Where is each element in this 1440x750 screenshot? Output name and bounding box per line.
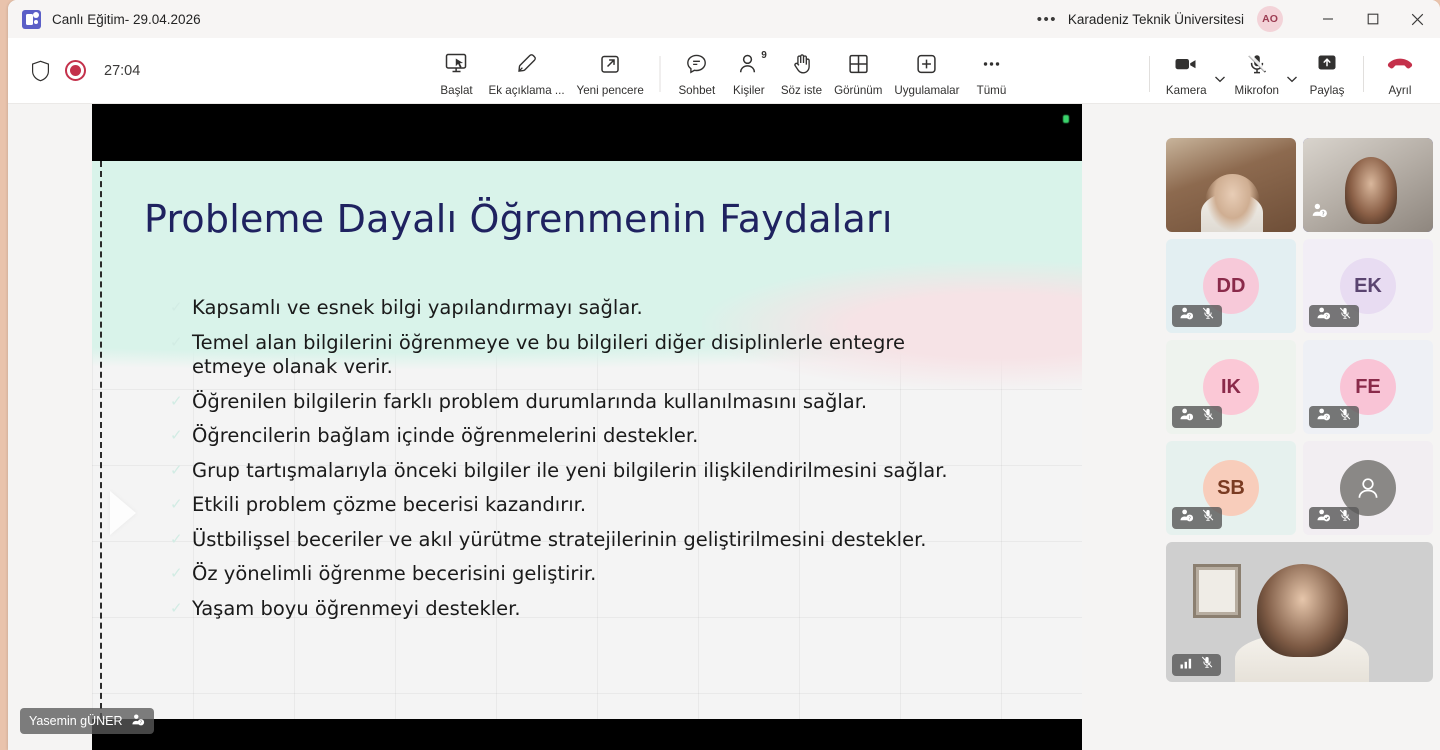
people-count-badge: 9 bbox=[761, 50, 767, 61]
new-window-label: Yeni pencere bbox=[577, 84, 644, 97]
roster-grid: ? DD ? bbox=[1166, 138, 1434, 535]
list-item-text: Öz yönelimli öğrenme becerisini geliştir… bbox=[192, 562, 596, 587]
close-button[interactable] bbox=[1395, 0, 1440, 38]
slide-bullet-list: ✓ Kapsamlı ve esnek bilgi yapılandırmayı… bbox=[170, 296, 1042, 631]
list-item: ✓ Temel alan bilgilerini öğrenmeye ve bu… bbox=[170, 331, 1042, 380]
people-icon: 9 bbox=[737, 49, 761, 79]
participant-tile-dd[interactable]: DD ? bbox=[1166, 239, 1296, 333]
presenter-person-icon: ? bbox=[1311, 202, 1328, 224]
participant-tile-sb[interactable]: SB ? bbox=[1166, 441, 1296, 535]
check-icon: ✓ bbox=[170, 459, 192, 483]
list-item-text: Üstbilişsel beceriler ve akıl yürütme st… bbox=[192, 528, 927, 553]
window-title: Canlı Eğitim- 29.04.2026 bbox=[52, 12, 201, 27]
share-label: Paylaş bbox=[1310, 84, 1345, 97]
presenter-person-icon: ? bbox=[131, 713, 145, 730]
shield-icon bbox=[30, 60, 51, 82]
toolbar-divider-1 bbox=[660, 56, 661, 92]
list-item: ✓ Öğrenilen bilgilerin farklı problem du… bbox=[170, 390, 1042, 415]
avatar[interactable]: AO bbox=[1257, 6, 1283, 32]
organization-name: Karadeniz Teknik Üniversitesi bbox=[1064, 12, 1257, 27]
green-dot-icon bbox=[1063, 115, 1069, 123]
list-item-text: Öğrencilerin bağlam içinde öğrenmelerini… bbox=[192, 424, 698, 449]
title-bar-left: Canlı Eğitim- 29.04.2026 bbox=[8, 10, 201, 29]
camera-button[interactable]: Kamera bbox=[1160, 42, 1213, 104]
tile-status-pill: ? bbox=[1172, 305, 1222, 327]
pen-annotation-icon bbox=[514, 49, 540, 79]
tile-status-pill: i bbox=[1172, 406, 1222, 428]
video-feed bbox=[1166, 138, 1296, 232]
presenter-info-icon: i bbox=[1179, 407, 1194, 427]
mic-muted-icon bbox=[1200, 655, 1214, 675]
presenter-check-icon bbox=[1316, 508, 1331, 528]
chat-label: Sohbet bbox=[678, 84, 715, 97]
view-label: Görünüm bbox=[834, 84, 882, 97]
participant-video-2[interactable]: ? bbox=[1303, 138, 1433, 232]
more-ellipsis-icon bbox=[979, 49, 1003, 79]
next-slide-arrow-icon[interactable] bbox=[110, 491, 136, 535]
letterbox-top bbox=[92, 104, 1082, 161]
window-overflow-label: ••• bbox=[1037, 11, 1057, 28]
tile-status-pill: ? bbox=[1309, 305, 1359, 327]
mic-muted-icon bbox=[1338, 306, 1352, 326]
tile-status-pill bbox=[1309, 507, 1359, 529]
teams-window: Canlı Eğitim- 29.04.2026 ••• Karadeniz T… bbox=[8, 0, 1440, 750]
chat-button[interactable]: Sohbet bbox=[671, 42, 723, 104]
toolbar-center-group: Başlat Ek açıklama ... bbox=[431, 38, 1018, 104]
camera-label: Kamera bbox=[1166, 84, 1207, 97]
slide-canvas: Probleme Dayalı Öğrenmenin Faydaları ✓ K… bbox=[92, 161, 1082, 719]
mic-muted-icon bbox=[1201, 306, 1215, 326]
annotation-label: Ek açıklama ... bbox=[489, 84, 565, 97]
tile-status-pill: ? bbox=[1172, 507, 1222, 529]
title-bar: Canlı Eğitim- 29.04.2026 ••• Karadeniz T… bbox=[8, 0, 1440, 38]
presenter-person-icon: ? bbox=[1179, 508, 1194, 528]
list-item: ✓ Kapsamlı ve esnek bilgi yapılandırmayı… bbox=[170, 296, 1042, 321]
mic-muted-icon bbox=[1338, 407, 1352, 427]
wall-frame-decor bbox=[1193, 564, 1241, 617]
letterbox-bottom bbox=[92, 719, 1082, 750]
camera-icon bbox=[1173, 49, 1199, 79]
screen-root: Canlı Eğitim- 29.04.2026 ••• Karadeniz T… bbox=[0, 0, 1440, 750]
raise-hand-button[interactable]: Söz iste bbox=[775, 42, 828, 104]
microphone-chevron-down-icon[interactable] bbox=[1285, 72, 1301, 104]
shared-content[interactable]: Probleme Dayalı Öğrenmenin Faydaları ✓ K… bbox=[92, 104, 1082, 750]
slide-title: Probleme Dayalı Öğrenmenin Faydaları bbox=[144, 197, 893, 241]
title-bar-right: ••• Karadeniz Teknik Üniversitesi AO bbox=[1030, 0, 1440, 38]
participant-roster: ? DD ? bbox=[1166, 138, 1434, 682]
check-icon: ✓ bbox=[170, 493, 192, 517]
list-item: ✓ Grup tartışmalarıyla önceki bilgiler i… bbox=[170, 459, 1042, 484]
presenter-person-icon: ? bbox=[1316, 407, 1331, 427]
maximize-button[interactable] bbox=[1350, 0, 1395, 38]
list-item-text: Yaşam boyu öğrenmeyi destekler. bbox=[192, 597, 521, 622]
check-icon: ✓ bbox=[170, 562, 192, 586]
mic-muted-icon bbox=[1201, 508, 1215, 528]
svg-text:i: i bbox=[1189, 415, 1190, 421]
raise-hand-icon bbox=[789, 49, 813, 79]
check-icon: ✓ bbox=[170, 528, 192, 552]
list-item: ✓ Etkili problem çözme becerisi kazandır… bbox=[170, 493, 1042, 518]
list-item: ✓ Üstbilişsel beceriler ve akıl yürütme … bbox=[170, 528, 1042, 553]
new-window-icon bbox=[598, 49, 622, 79]
mic-muted-icon bbox=[1201, 407, 1215, 427]
screen-share-icon bbox=[444, 49, 470, 79]
teams-logo-icon bbox=[22, 10, 41, 29]
list-item: ✓ Öğrencilerin bağlam içinde öğrenmeleri… bbox=[170, 424, 1042, 449]
leave-button[interactable]: Ayrıl bbox=[1374, 42, 1426, 104]
raise-hand-label: Söz iste bbox=[781, 84, 822, 97]
tile-status-pill: ? bbox=[1309, 406, 1359, 428]
microphone-button[interactable]: Mikrofon bbox=[1229, 42, 1285, 104]
toolbar-divider-2 bbox=[1149, 56, 1150, 92]
toolbar-right-group: Kamera Mikrofon bbox=[1139, 38, 1440, 104]
slide-dashed-border bbox=[100, 161, 102, 719]
spotlight-video[interactable] bbox=[1166, 542, 1433, 682]
grid-view-icon bbox=[846, 49, 870, 79]
list-item-text: Temel alan bilgilerini öğrenmeye ve bu b… bbox=[192, 331, 952, 380]
minimize-button[interactable] bbox=[1305, 0, 1350, 38]
more-ellipsis-icon[interactable]: ••• bbox=[1030, 0, 1064, 38]
record-dot-icon bbox=[65, 60, 86, 81]
participant-tile-anonymous[interactable] bbox=[1303, 441, 1433, 535]
check-icon: ✓ bbox=[170, 296, 192, 320]
participant-video-1[interactable] bbox=[1166, 138, 1296, 232]
toolbar-left-group: 27:04 bbox=[8, 60, 140, 82]
annotation-button[interactable]: Ek açıklama ... bbox=[483, 42, 571, 104]
people-button[interactable]: 9 Kişiler bbox=[723, 42, 775, 104]
hangup-phone-icon bbox=[1385, 49, 1415, 79]
apps-plus-icon bbox=[915, 49, 939, 79]
more-button[interactable]: Tümü bbox=[965, 42, 1017, 104]
check-icon: ✓ bbox=[170, 597, 192, 621]
list-item: ✓ Öz yönelimli öğrenme becerisini gelişt… bbox=[170, 562, 1042, 587]
spotlight-status-pill bbox=[1172, 654, 1221, 676]
more-label: Tümü bbox=[977, 84, 1007, 97]
list-item-text: Kapsamlı ve esnek bilgi yapılandırmayı s… bbox=[192, 296, 643, 321]
share-button[interactable]: Paylaş bbox=[1301, 42, 1353, 104]
people-label: Kişiler bbox=[733, 84, 765, 97]
share-up-arrow-icon bbox=[1314, 49, 1340, 79]
camera-chevron-down-icon[interactable] bbox=[1213, 72, 1229, 104]
toolbar-divider-3 bbox=[1363, 56, 1364, 92]
signal-bars-icon bbox=[1179, 656, 1193, 675]
participant-tile-ik[interactable]: IK i bbox=[1166, 340, 1296, 434]
meeting-toolbar: 27:04 Başlat bbox=[8, 38, 1440, 104]
new-window-button[interactable]: Yeni pencere bbox=[571, 42, 650, 104]
meeting-timer: 27:04 bbox=[104, 63, 140, 79]
start-share-label: Başlat bbox=[440, 84, 472, 97]
check-icon: ✓ bbox=[170, 331, 192, 355]
presenter-person-icon: ? bbox=[1179, 306, 1194, 326]
chat-bubble-icon bbox=[685, 49, 709, 79]
list-item-text: Etkili problem çözme becerisi kazandırır… bbox=[192, 493, 586, 518]
presenter-person-icon: ? bbox=[1316, 306, 1331, 326]
list-item: ✓ Yaşam boyu öğrenmeyi destekler. bbox=[170, 597, 1042, 622]
presenter-name-badge: Yasemin gÜNER ? bbox=[20, 708, 154, 734]
microphone-label: Mikrofon bbox=[1235, 84, 1279, 97]
list-item-text: Öğrenilen bilgilerin farklı problem duru… bbox=[192, 390, 867, 415]
participant-tile-ek[interactable]: EK ? bbox=[1303, 239, 1433, 333]
check-icon: ✓ bbox=[170, 390, 192, 414]
list-item-text: Grup tartışmalarıyla önceki bilgiler ile… bbox=[192, 459, 948, 484]
view-button[interactable]: Görünüm bbox=[828, 42, 888, 104]
start-share-button[interactable]: Başlat bbox=[431, 42, 483, 104]
apps-button[interactable]: Uygulamalar bbox=[888, 42, 965, 104]
apps-label: Uygulamalar bbox=[894, 84, 959, 97]
participant-tile-fe[interactable]: FE ? bbox=[1303, 340, 1433, 434]
check-icon: ✓ bbox=[170, 424, 192, 448]
leave-label: Ayrıl bbox=[1389, 84, 1412, 97]
microphone-muted-icon bbox=[1245, 49, 1269, 79]
meeting-stage: Probleme Dayalı Öğrenmenin Faydaları ✓ K… bbox=[8, 104, 1440, 750]
mic-muted-icon bbox=[1338, 508, 1352, 528]
svg-text:?: ? bbox=[1322, 211, 1325, 217]
presenter-name-label: Yasemin gÜNER bbox=[29, 714, 123, 728]
